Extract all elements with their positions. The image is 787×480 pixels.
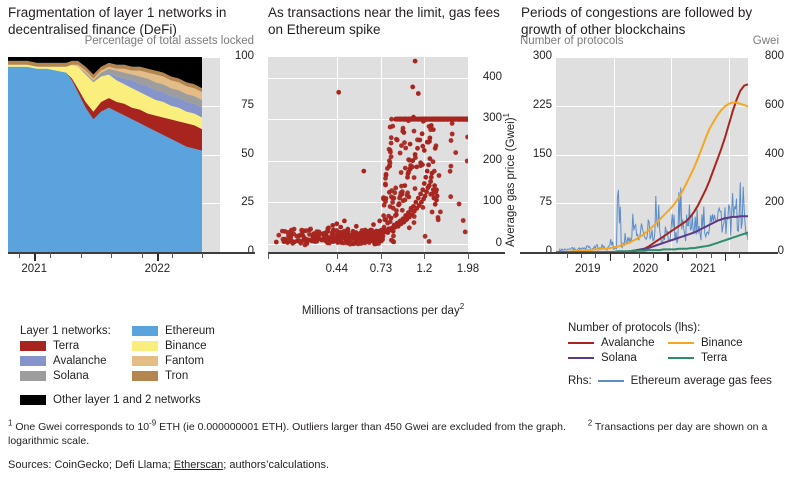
y-tick-label-right: 200 <box>752 197 784 208</box>
y-tick-label-left: 225 <box>518 100 552 111</box>
avalanche-line-swatch <box>568 342 594 344</box>
panel-2-unit-row <box>262 35 516 51</box>
legend-item-binance-line: Binance <box>668 337 778 349</box>
legend-label: Other layer 1 and 2 networks <box>53 394 201 406</box>
sources-line: Sources: CoinGecko; Defi Llama; Ethersca… <box>8 459 329 471</box>
x-tick-minor <box>696 253 697 258</box>
legend-item-solana: Solana <box>20 370 132 382</box>
binance-line-swatch <box>668 342 694 344</box>
legend-label: Tron <box>165 370 188 382</box>
legend-label: Binance <box>701 337 743 349</box>
panel-3-title: Periods of congestions are followed by g… <box>516 0 787 35</box>
x-tick-minor <box>468 253 469 259</box>
y-tick-label: 100 <box>468 196 502 207</box>
x-tick-major <box>667 253 669 261</box>
panel-2-scatter <box>268 57 468 252</box>
panel-gas-fees: As transactions near the limit, gas fees… <box>262 0 516 266</box>
x-tick-major <box>34 253 36 261</box>
panel-3-unit-right: Gwei <box>753 35 779 47</box>
legend-label: Ethereum <box>165 325 215 337</box>
y-tick-label: 50 <box>222 149 254 160</box>
x-tick-minor <box>639 253 640 258</box>
y-tick-label-right: 400 <box>752 149 784 160</box>
legend-label: Avalanche <box>53 355 107 367</box>
footnotes: 1 One Gwei corresponds to 10-9 ETH (ie 0… <box>8 420 779 448</box>
x-tick-minor <box>739 253 740 258</box>
x-tick-label: 0.44 <box>315 263 359 275</box>
x-tick-label: 0.73 <box>359 263 403 275</box>
legend-label: Terra <box>53 340 79 352</box>
x-tick-minor <box>624 253 625 258</box>
panel-2-x-axis-label: Millions of transactions per day2 <box>256 305 510 317</box>
y-tick-label-right: 800 <box>752 51 784 62</box>
ethereum-swatch <box>132 326 158 336</box>
y-tick-label: 0 <box>468 238 502 249</box>
terra-swatch <box>20 341 46 351</box>
panel-3-plot: 0751502253000200400600800 201920202021 <box>516 51 787 266</box>
scatter-points <box>274 59 468 248</box>
fantom-swatch <box>132 356 158 366</box>
line-terra <box>556 233 748 253</box>
ethereum-gas-line-swatch <box>598 380 624 382</box>
panel-3-unit-left: Number of protocols <box>520 35 624 47</box>
legend-item-fantom: Fantom <box>132 355 252 367</box>
panel-3-legend-head: Number of protocols (lhs): <box>568 322 787 334</box>
footnote-1-text-b: ETH (ie 0.000000001 ETH). Outliers large… <box>156 421 566 433</box>
x-tick-minor <box>337 253 338 259</box>
panel-1-unit-label: Percentage of total assets locked <box>85 35 254 47</box>
x-tick-minor <box>19 253 20 258</box>
rhs-prefix: Rhs: <box>568 375 592 387</box>
x-tick-label: 2021 <box>14 263 54 275</box>
legend-label: Terra <box>701 352 727 364</box>
y-tick-label: 200 <box>468 155 502 166</box>
solana-swatch <box>20 371 46 381</box>
legend-item-rhs-gas-fees: Rhs: Ethereum average gas fees <box>568 375 787 387</box>
y-tick-label-left: 300 <box>518 51 552 62</box>
x-tick-minor <box>653 253 654 258</box>
sources-prefix: Sources: CoinGecko; Defi Llama; <box>8 459 174 471</box>
y-tick-label: 100 <box>222 51 254 62</box>
tron-swatch <box>132 371 158 381</box>
footnote-2-marker: 2 <box>588 419 592 428</box>
x-tick-label: 2019 <box>566 263 610 275</box>
x-tick-minor <box>50 253 51 258</box>
etherscan-link[interactable]: Etherscan <box>174 459 224 471</box>
x-tick-minor <box>682 253 683 258</box>
x-tick-minor <box>567 253 568 258</box>
y-tick-label-left: 150 <box>518 149 552 160</box>
legend-label: Ethereum average gas fees <box>631 375 772 387</box>
y-tick-label-left: 75 <box>518 197 552 208</box>
panel-3-legend: Number of protocols (lhs): Avalanche Sol… <box>568 322 787 390</box>
y-tick-label: 75 <box>222 100 254 111</box>
chart-panels: Fragmentation of layer 1 networks in dec… <box>0 0 787 266</box>
sources-suffix: ; authors’calculations. <box>223 459 329 471</box>
legend-item-tron: Tron <box>132 370 252 382</box>
legend-item-binance: Binance <box>132 340 252 352</box>
x-tick-major <box>725 253 727 261</box>
x-tick-minor <box>202 253 203 258</box>
legend-label: Binance <box>165 340 207 352</box>
solana-line-swatch <box>568 357 594 359</box>
other-networks-swatch <box>20 395 46 405</box>
x-tick-minor <box>142 253 143 258</box>
legend-item-solana-line: Solana <box>568 352 668 364</box>
legend-item-terra: Terra <box>20 340 132 352</box>
y-tick-label: 25 <box>222 197 254 208</box>
legend-item-avalanche: Avalanche <box>20 355 132 367</box>
panel-1-stacked-area <box>8 57 220 252</box>
footnote-1-marker: 1 <box>8 419 12 428</box>
panel-1-legend-head: Layer 1 networks: <box>20 325 132 337</box>
panel-2-baseline <box>268 252 505 254</box>
legend-label: Solana <box>53 370 89 382</box>
legend-item-other: Other layer 1 and 2 networks <box>20 394 260 406</box>
x-tick-minor <box>381 253 382 259</box>
panel-1-unit-row: Percentage of total assets locked <box>0 35 262 51</box>
legend-item-ethereum: Ethereum <box>132 325 252 337</box>
panel-2-plot: 0100200300400 0.440.731.21.98 Average ga… <box>262 51 516 266</box>
legend-label: Solana <box>601 352 637 364</box>
legend-label: Fantom <box>165 355 204 367</box>
panel-fragmentation: Fragmentation of layer 1 networks in dec… <box>0 0 262 266</box>
x-tick-minor <box>424 253 425 259</box>
x-tick-minor <box>81 253 82 258</box>
panel-1-title: Fragmentation of layer 1 networks in dec… <box>0 0 262 35</box>
binance-swatch <box>132 341 158 351</box>
x-tick-minor <box>111 253 112 258</box>
y-tick-label-right: 600 <box>752 100 784 111</box>
panel-3-unit-row: Number of protocols Gwei <box>516 35 787 51</box>
x-tick-minor <box>595 253 596 258</box>
x-tick-minor <box>268 253 269 259</box>
y-tick-label: 400 <box>468 72 502 83</box>
x-tick-major <box>610 253 612 261</box>
x-tick-label: 1.2 <box>402 263 446 275</box>
panel-congestion: Periods of congestions are followed by g… <box>516 0 787 266</box>
x-tick-minor <box>581 253 582 258</box>
terra-line-swatch <box>668 357 694 359</box>
panel-1-legend: Layer 1 networks: Terra Avalanche Solana <box>20 325 260 409</box>
x-tick-label: 1.98 <box>446 263 490 275</box>
legend-label: Avalanche <box>601 337 655 349</box>
x-tick-minor <box>711 253 712 258</box>
panel-2-title: As transactions near the limit, gas fees… <box>262 0 516 35</box>
panel-1-baseline <box>8 252 255 254</box>
footnote-1-text-a: One Gwei corresponds to 10 <box>15 421 149 433</box>
y-tick-label: 300 <box>468 113 502 124</box>
legend-item-terra-line: Terra <box>668 352 778 364</box>
x-tick-label: 2020 <box>623 263 667 275</box>
x-tick-major <box>157 253 159 261</box>
x-tick-label: 2022 <box>137 263 177 275</box>
x-tick-minor <box>172 253 173 258</box>
panel-1-plot: 0255075100 20212022 <box>0 51 262 266</box>
panel-3-lines <box>556 57 748 252</box>
line-binance <box>556 103 748 253</box>
avalanche-swatch <box>20 356 46 366</box>
legend-item-avalanche-line: Avalanche <box>568 337 668 349</box>
x-tick-label: 2021 <box>681 263 725 275</box>
